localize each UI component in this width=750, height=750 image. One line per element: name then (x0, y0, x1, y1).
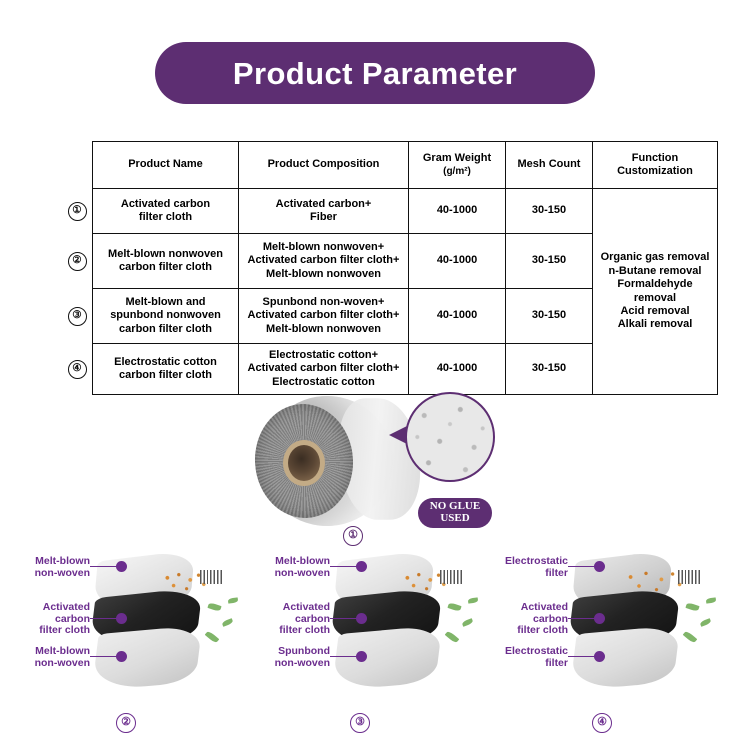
column-header-mesh-count: Mesh Count (506, 142, 593, 189)
label-mid-line1: Activated (283, 601, 330, 613)
label-top-line2: filter (545, 567, 568, 579)
label-mid-line2: carbon (295, 613, 330, 625)
table-row: ① Activated carbon filter cloth Activate… (62, 189, 718, 234)
label-bot-line2: non-woven (35, 657, 90, 669)
leaf-decoration (461, 618, 473, 627)
page-title: Product Parameter (233, 58, 517, 89)
label-top-line1: Melt-blown (35, 555, 90, 567)
leader-dot-middle (356, 613, 367, 624)
leader-line-bottom (90, 656, 118, 657)
brush-edge (200, 570, 224, 584)
cell-product-composition: Activated carbon+ Fiber (239, 189, 409, 234)
leader-dot-bottom (594, 651, 605, 662)
label-top-layer: Melt-blown non-woven (252, 556, 330, 579)
label-middle-layer: Activated carbon filter cloth (248, 602, 330, 637)
table-body: ① Activated carbon filter cloth Activate… (62, 189, 718, 395)
leader-line-middle (568, 618, 596, 619)
leaf-decoration (207, 602, 221, 612)
column-header-product-name: Product Name (93, 142, 239, 189)
leaf-decoration (683, 630, 698, 644)
label-mid-line2: carbon (533, 613, 568, 625)
leader-line-top (90, 566, 118, 567)
leader-line-middle (330, 618, 358, 619)
table-header: Product Name Product Composition Gram We… (62, 142, 718, 189)
no-glue-line2: USED (440, 513, 469, 525)
cell-product-composition: Spunbond non-woven+ Activated carbon fil… (239, 289, 409, 344)
roll-core (283, 440, 325, 486)
table-header-row: Product Name Product Composition Gram We… (62, 142, 718, 189)
label-mid-line1: Activated (521, 601, 568, 613)
label-middle-layer: Activated carbon filter cloth (484, 602, 568, 637)
label-bot-line1: Electrostatic (505, 645, 568, 657)
composition-line2: Activated carbon filter cloth+ (248, 309, 400, 321)
leader-dot-middle (594, 613, 605, 624)
leaf-decoration (445, 630, 460, 644)
leaf-decoration (699, 618, 711, 627)
leader-line-top (330, 566, 358, 567)
layer-bottom-sheet (570, 625, 681, 691)
cell-gram-weight: 40-1000 (409, 189, 506, 234)
label-mid-line1: Activated (43, 601, 90, 613)
diagram-index-badge: ② (116, 713, 136, 733)
gram-weight-unit: (g/m²) (443, 166, 471, 177)
cell-product-name: Activated carbon filter cloth (93, 189, 239, 234)
leader-dot-bottom (116, 651, 127, 662)
leader-line-bottom (568, 656, 596, 657)
product-name-line1: Activated carbon (121, 198, 210, 210)
label-mid-line3: filter cloth (517, 624, 568, 636)
product-name-line2: spunbond nonwoven (110, 309, 221, 321)
composition-line2: Activated carbon filter cloth+ (248, 254, 400, 266)
row-index-badge: ④ (68, 360, 87, 379)
product-name-line2: carbon filter cloth (119, 369, 212, 381)
function-line-5: Acid removal (620, 305, 689, 317)
cell-function-customization: Organic gas removal n-Butane removal For… (593, 189, 718, 395)
label-bot-line1: Melt-blown (35, 645, 90, 657)
cell-gram-weight: 40-1000 (409, 289, 506, 344)
leader-dot-top (116, 561, 127, 572)
fabric-roll-image (245, 390, 425, 535)
magnified-fabric-detail (405, 392, 495, 482)
leaf-decoration (685, 602, 699, 612)
product-name-line2: carbon filter cloth (119, 261, 212, 273)
label-bot-line1: Spunbond (278, 645, 330, 657)
leaf-decoration (228, 597, 239, 603)
layer-bottom-sheet (92, 625, 203, 691)
product-name-line1: Electrostatic cotton (114, 356, 217, 368)
label-top-line2: non-woven (35, 567, 90, 579)
cell-product-name: Electrostatic cotton carbon filter cloth (93, 344, 239, 395)
cell-mesh-count: 30-150 (506, 234, 593, 289)
product-name-line3: carbon filter cloth (119, 323, 212, 335)
composition-line1: Activated carbon+ (276, 198, 372, 210)
composition-line1: Melt-blown nonwoven+ (263, 241, 384, 253)
column-header-index (62, 142, 93, 189)
cell-product-name: Melt-blown nonwoven carbon filter cloth (93, 234, 239, 289)
diagram-index-badge: ③ (350, 713, 370, 733)
cell-gram-weight: 40-1000 (409, 234, 506, 289)
layer-diagram-3: Melt-blown non-woven Activated carbon fi… (240, 548, 490, 748)
product-parameter-banner: Product Parameter (155, 42, 595, 104)
label-mid-line3: filter cloth (39, 624, 90, 636)
function-line-3: Formaldehyde (617, 278, 692, 290)
composition-line2: Fiber (310, 211, 337, 223)
row-index-badge: ② (68, 252, 87, 271)
parameter-table-container: Product Name Product Composition Gram We… (62, 141, 688, 395)
layer-diagram-2: Melt-blown non-woven Activated carbon fi… (0, 548, 250, 748)
leaf-decoration (447, 602, 461, 612)
function-line-1: Organic gas removal (601, 251, 710, 263)
roll-index-badge: ① (343, 526, 363, 546)
label-mid-line3: filter cloth (279, 624, 330, 636)
function-line-6: Alkali removal (618, 318, 693, 330)
product-name-line2: filter cloth (139, 211, 192, 223)
leaf-decoration (205, 630, 220, 644)
no-glue-badge: NO GLUE USED (418, 498, 492, 528)
row-index-cell: ② (62, 234, 93, 289)
cell-mesh-count: 30-150 (506, 344, 593, 395)
function-line-4: removal (634, 292, 676, 304)
leaf-decoration (706, 597, 717, 603)
column-header-product-composition: Product Composition (239, 142, 409, 189)
function-customization-line2: Customization (617, 165, 693, 177)
leader-line-middle (90, 618, 118, 619)
leader-line-bottom (330, 656, 358, 657)
label-bottom-layer: Spunbond non-woven (252, 646, 330, 669)
label-bot-line2: non-woven (275, 657, 330, 669)
composition-line3: Melt-blown nonwoven (266, 268, 381, 280)
product-parameter-table: Product Name Product Composition Gram We… (62, 141, 718, 395)
cell-mesh-count: 30-150 (506, 189, 593, 234)
layer-bottom-sheet (332, 625, 443, 691)
product-name-line1: Melt-blown and (125, 296, 205, 308)
composition-line1: Electrostatic cotton+ (269, 349, 378, 361)
leader-line-top (568, 566, 596, 567)
brush-edge (678, 570, 702, 584)
cell-gram-weight: 40-1000 (409, 344, 506, 395)
cell-product-composition: Melt-blown nonwoven+ Activated carbon fi… (239, 234, 409, 289)
composition-line2: Activated carbon filter cloth+ (248, 362, 400, 374)
row-index-cell: ① (62, 189, 93, 234)
row-index-badge: ③ (68, 307, 87, 326)
label-top-layer: Electrostatic filter (484, 556, 568, 579)
cell-product-name: Melt-blown and spunbond nonwoven carbon … (93, 289, 239, 344)
column-header-gram-weight: Gram Weight (g/m²) (409, 142, 506, 189)
label-bot-line2: filter (545, 657, 568, 669)
label-middle-layer: Activated carbon filter cloth (8, 602, 90, 637)
roll-photo-section: NO GLUE USED ① (0, 390, 750, 550)
function-line-2: n-Butane removal (609, 265, 702, 277)
banner-container: Product Parameter (0, 42, 750, 104)
leader-dot-middle (116, 613, 127, 624)
layer-diagram-4: Electrostatic filter Activated carbon fi… (478, 548, 728, 748)
row-index-badge: ① (68, 202, 87, 221)
product-name-line1: Melt-blown nonwoven (108, 248, 223, 260)
label-bottom-layer: Melt-blown non-woven (12, 646, 90, 669)
composition-line3: Electrostatic cotton (272, 376, 375, 388)
row-index-cell: ④ (62, 344, 93, 395)
brush-edge (440, 570, 464, 584)
row-index-cell: ③ (62, 289, 93, 344)
leader-dot-bottom (356, 651, 367, 662)
function-customization-line1: Function (632, 152, 678, 164)
label-top-line1: Melt-blown (275, 555, 330, 567)
leader-dot-top (594, 561, 605, 572)
leaf-decoration (468, 597, 479, 603)
label-top-layer: Melt-blown non-woven (12, 556, 90, 579)
label-bottom-layer: Electrostatic filter (484, 646, 568, 669)
label-mid-line2: carbon (55, 613, 90, 625)
cell-product-composition: Electrostatic cotton+ Activated carbon f… (239, 344, 409, 395)
label-top-line2: non-woven (275, 567, 330, 579)
cell-mesh-count: 30-150 (506, 289, 593, 344)
leaf-decoration (221, 618, 233, 627)
column-header-function-customization: Function Customization (593, 142, 718, 189)
diagram-index-badge: ④ (592, 713, 612, 733)
gram-weight-label: Gram Weight (423, 152, 491, 164)
composition-line3: Melt-blown nonwoven (266, 323, 381, 335)
composition-line1: Spunbond non-woven+ (263, 296, 385, 308)
label-top-line1: Electrostatic (505, 555, 568, 567)
leader-dot-top (356, 561, 367, 572)
